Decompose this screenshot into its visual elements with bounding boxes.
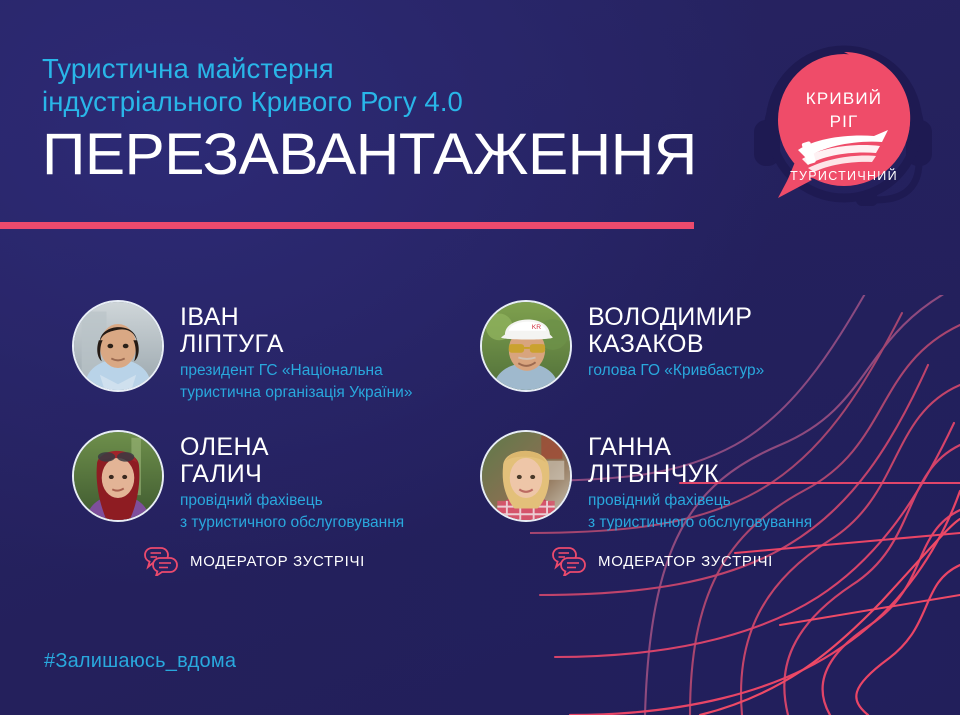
avatar: [72, 300, 164, 392]
speaker-role-line-1: провідний фахівець: [588, 491, 812, 510]
speaker-card-hanna-litvinchuk: ГАННА ЛІТВІНЧУК провідний фахівець з тур…: [480, 430, 900, 576]
speaker-text: ОЛЕНА ГАЛИЧ провідний фахівець з туристи…: [180, 430, 404, 532]
speaker-first-name: ІВАН: [180, 304, 412, 331]
speaker-card-volodymyr-kazakov: KR ВОЛОДИМИР КАЗАКОВ голова ГО «Кривбаст…: [480, 300, 900, 402]
speaker-role-line-2: туристична організація України»: [180, 383, 412, 402]
speaker-card-olena-halych: ОЛЕНА ГАЛИЧ провідний фахівець з туристи…: [72, 430, 492, 576]
moderator-badge: МОДЕРАТОР ЗУСТРІЧІ: [142, 546, 492, 576]
speaker-last-name: ЛІПТУГА: [180, 331, 412, 358]
avatar: KR: [480, 300, 572, 392]
speaker-first-name: ГАННА: [588, 434, 812, 461]
speaker-text: ІВАН ЛІПТУГА президент ГС «Національна т…: [180, 300, 412, 402]
poster-canvas: Туристична майстерня індустріального Кри…: [0, 0, 960, 715]
header-subtitle-line-1: Туристична майстерня: [42, 52, 722, 85]
page-title: ПЕРЕЗАВАНТАЖЕННЯ: [42, 124, 749, 186]
moderator-label: МОДЕРАТОР ЗУСТРІЧІ: [598, 553, 773, 570]
speaker-last-name: ГАЛИЧ: [180, 461, 404, 488]
avatar: [480, 430, 572, 522]
speaker-role-line-1: президент ГС «Національна: [180, 361, 412, 380]
header-block: Туристична майстерня індустріального Кри…: [42, 52, 722, 186]
moderator-label: МОДЕРАТОР ЗУСТРІЧІ: [190, 553, 365, 570]
svg-text:KR: KR: [532, 324, 541, 331]
speaker-last-name: ЛІТВІНЧУК: [588, 461, 812, 488]
logo-text-line-3: ТУРИСТИЧНИЙ: [790, 168, 898, 183]
speaker-role-line-1: голова ГО «Кривбастур»: [588, 361, 764, 380]
speaker-text: ГАННА ЛІТВІНЧУК провідний фахівець з тур…: [588, 430, 812, 532]
chat-bubbles-icon: [142, 546, 180, 576]
speaker-last-name: КАЗАКОВ: [588, 331, 764, 358]
speakers-row-1: ІВАН ЛІПТУГА президент ГС «Національна т…: [0, 300, 960, 402]
speaker-role-line-2: з туристичного обслуговування: [180, 513, 404, 532]
speakers-row-2: ОЛЕНА ГАЛИЧ провідний фахівець з туристи…: [0, 430, 960, 576]
speaker-card-ivan-liptuha: ІВАН ЛІПТУГА президент ГС «Національна т…: [72, 300, 492, 402]
speaker-role-line-1: провідний фахівець: [180, 491, 404, 510]
avatar: [72, 430, 164, 522]
speaker-first-name: ОЛЕНА: [180, 434, 404, 461]
logo-text-line-2: РІГ: [830, 112, 859, 131]
header-subtitle-line-2: індустріального Кривого Рогу 4.0: [42, 85, 722, 118]
speaker-role-line-2: з туристичного обслуговування: [588, 513, 812, 532]
kryvyi-rih-tourist-logo[interactable]: КРИВИЙ РІГ ТУРИСТИЧНИЙ: [748, 32, 938, 210]
hashtag: #Залишаюсь_вдома: [44, 650, 236, 673]
speakers-grid: ІВАН ЛІПТУГА президент ГС «Національна т…: [0, 300, 960, 576]
logo-text-line-1: КРИВИЙ: [806, 89, 882, 108]
speaker-first-name: ВОЛОДИМИР: [588, 304, 764, 331]
moderator-badge: МОДЕРАТОР ЗУСТРІЧІ: [550, 546, 900, 576]
header-divider: [0, 222, 694, 229]
chat-bubbles-icon: [550, 546, 588, 576]
speaker-text: ВОЛОДИМИР КАЗАКОВ голова ГО «Кривбастур»: [588, 300, 764, 380]
